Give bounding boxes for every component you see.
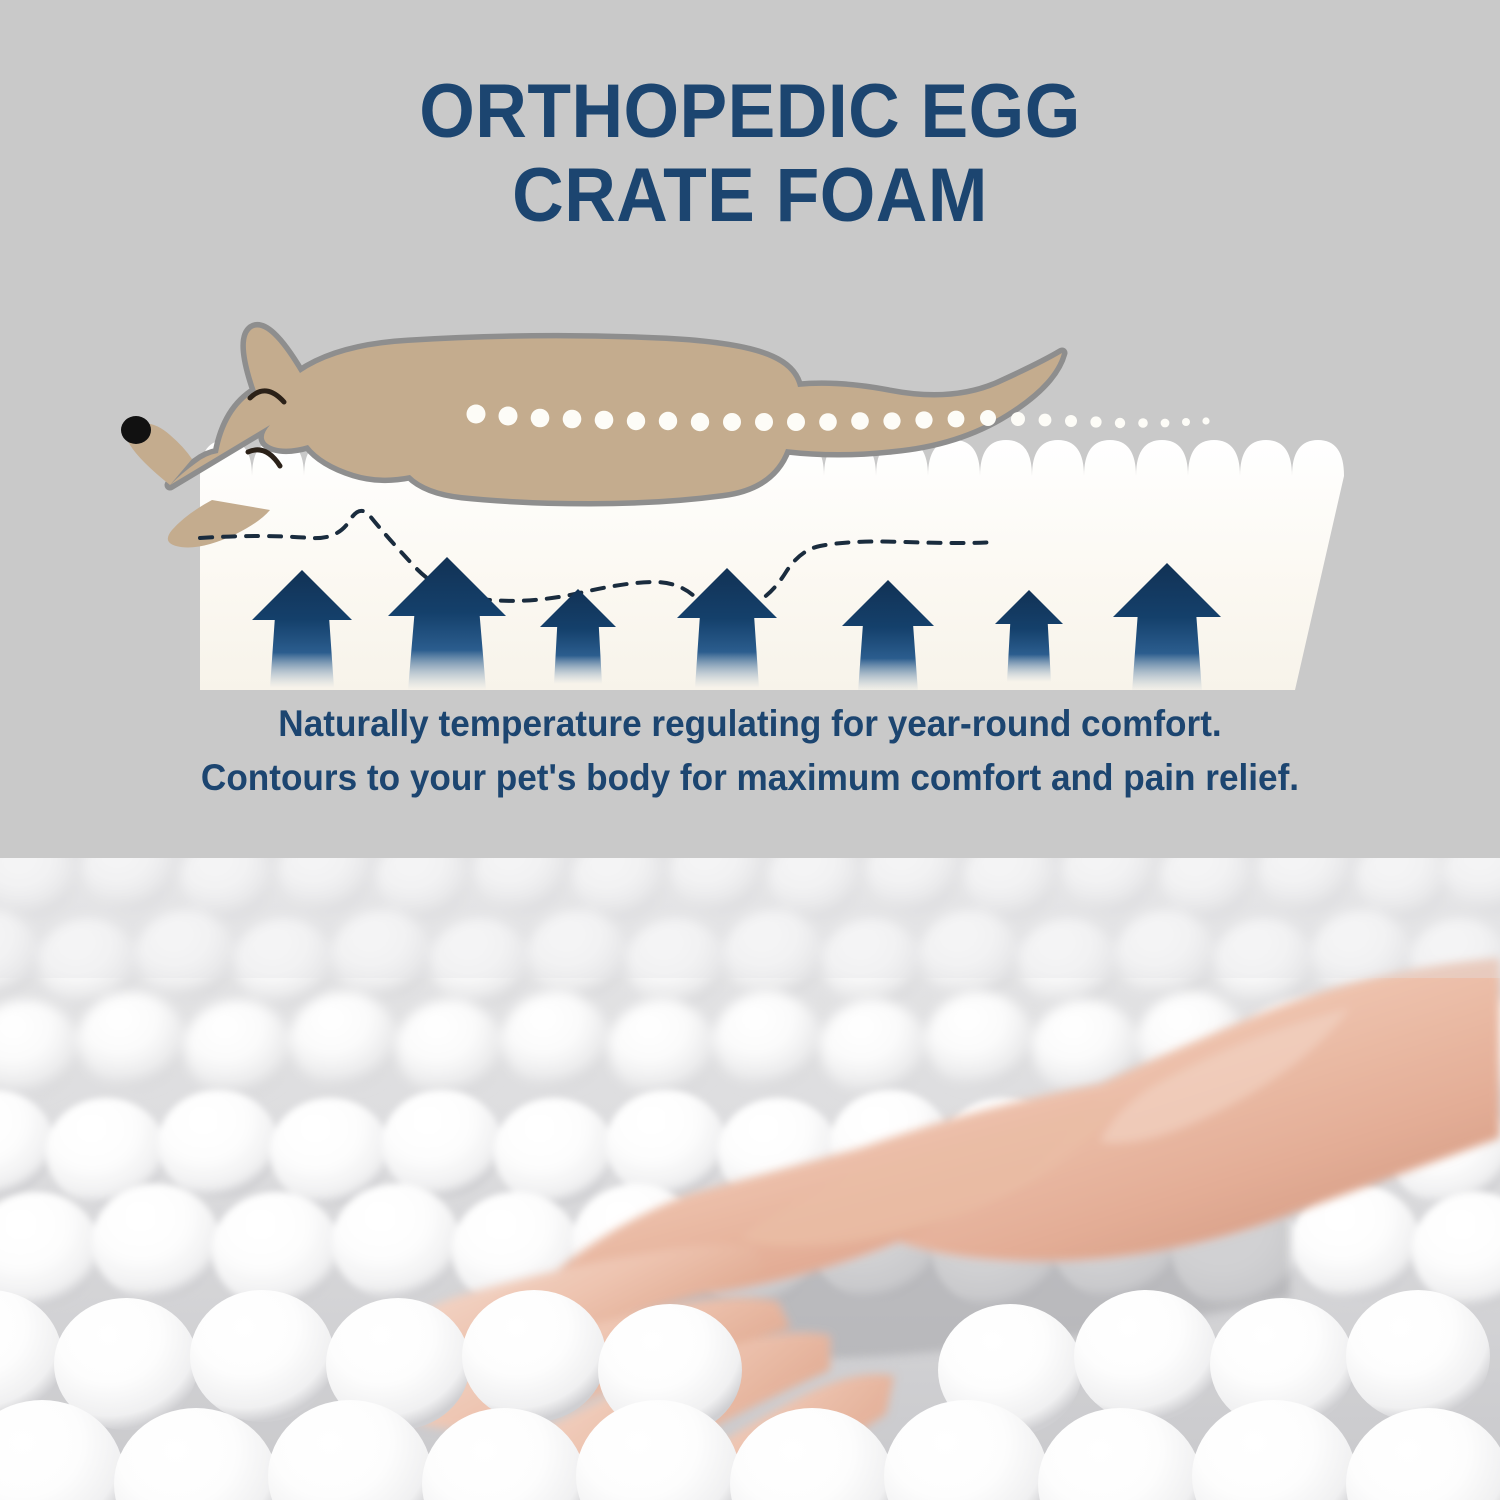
- caption-line-1: Naturally temperature regulating for yea…: [38, 697, 1463, 751]
- dog-nose: [121, 416, 151, 444]
- foam-photo: [0, 858, 1500, 1500]
- feature-captions: Naturally temperature regulating for yea…: [38, 697, 1463, 805]
- foam-photo-svg: [0, 858, 1500, 1500]
- caption-line-2: Contours to your pet's body for maximum …: [38, 751, 1463, 805]
- orthopedic-support-illustration: [0, 300, 1500, 690]
- headline-line-1: ORTHOPEDIC EGG: [45, 70, 1455, 154]
- info-panel: ORTHOPEDIC EGG CRATE FOAM: [0, 0, 1500, 858]
- page-title: ORTHOPEDIC EGG CRATE FOAM: [45, 70, 1455, 238]
- illustration-svg: [0, 300, 1500, 690]
- headline-line-2: CRATE FOAM: [45, 154, 1455, 238]
